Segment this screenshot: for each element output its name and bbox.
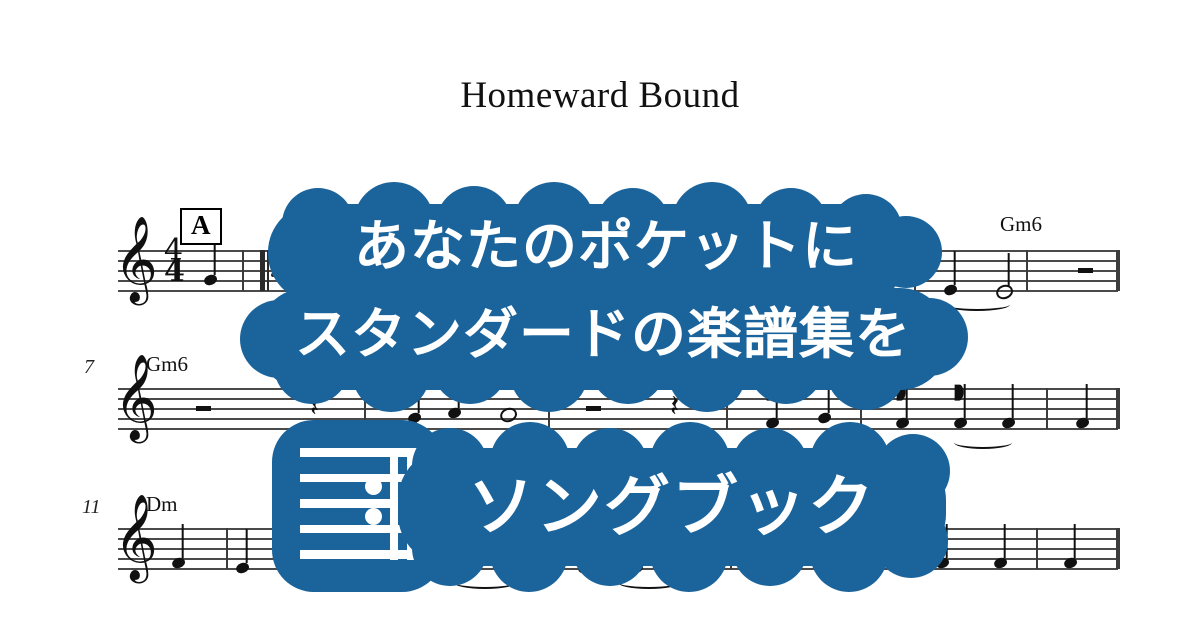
measure-number: 11 bbox=[82, 496, 101, 519]
barline bbox=[638, 250, 640, 291]
staff-system-1: 𝄞 4 4 bbox=[118, 250, 1118, 294]
staff-lines bbox=[118, 388, 1118, 432]
final-barline bbox=[1116, 388, 1120, 429]
slur bbox=[944, 298, 1010, 311]
staff-system-3: 𝄞 bbox=[118, 528, 1118, 572]
rehearsal-mark: A bbox=[180, 208, 222, 245]
chord-symbol: C bbox=[286, 212, 300, 237]
barline bbox=[242, 250, 244, 291]
chord-symbol: Gm6 bbox=[1000, 212, 1042, 237]
chord-symbol: Dm bbox=[812, 352, 844, 377]
half-rest bbox=[1078, 268, 1093, 273]
chord-symbol: B♭ bbox=[640, 492, 664, 517]
barline bbox=[914, 250, 916, 291]
barline bbox=[1026, 250, 1028, 291]
slur bbox=[954, 436, 1012, 449]
final-barline bbox=[1116, 528, 1120, 569]
barline bbox=[908, 528, 910, 569]
chord-symbol: Dm bbox=[146, 492, 178, 517]
barline bbox=[730, 528, 732, 569]
sheet-music-background: Homeward Bound 𝄞 4 4 bbox=[0, 0, 1200, 630]
barline bbox=[356, 528, 358, 569]
quarter-rest: 𝄽 bbox=[670, 392, 679, 422]
staff-lines bbox=[118, 528, 1118, 572]
slur bbox=[618, 576, 680, 589]
barline bbox=[226, 528, 228, 569]
page-title: Homeward Bound bbox=[0, 74, 1200, 117]
final-barline bbox=[1116, 250, 1120, 291]
treble-clef-icon: 𝄞 bbox=[114, 222, 158, 296]
barline bbox=[1046, 388, 1048, 429]
barline bbox=[786, 250, 788, 291]
barline bbox=[548, 388, 550, 429]
barline bbox=[290, 528, 292, 569]
chord-symbol: A7 bbox=[394, 352, 420, 377]
barline bbox=[860, 388, 862, 429]
time-signature-denominator: 4 bbox=[164, 257, 185, 287]
barline bbox=[726, 388, 728, 429]
half-rest bbox=[586, 406, 601, 411]
barline bbox=[454, 250, 456, 291]
measure-number: 7 bbox=[84, 356, 94, 379]
quarter-rest: 𝄽 bbox=[310, 392, 319, 422]
chord-symbol: Em bbox=[655, 212, 684, 237]
barline bbox=[364, 388, 366, 429]
chord-symbol: Gm6 bbox=[146, 352, 188, 377]
slur bbox=[454, 576, 516, 589]
barline bbox=[1036, 528, 1038, 569]
half-rest bbox=[196, 406, 211, 411]
repeat-start-barline bbox=[260, 250, 274, 291]
barline bbox=[558, 528, 560, 569]
staff-system-2: 𝄞 𝄽 𝄽 bbox=[118, 388, 1118, 432]
